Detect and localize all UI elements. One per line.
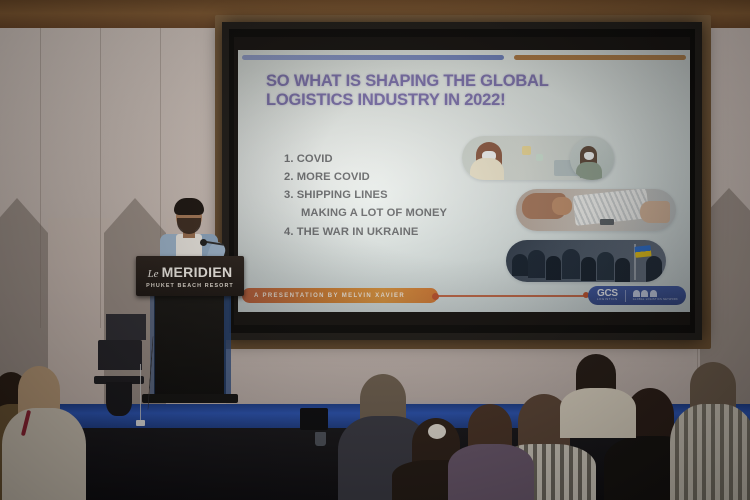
slide-title-line-1: SO WHAT IS SHAPING THE GLOBAL xyxy=(266,72,636,91)
pedestal-base xyxy=(106,382,132,416)
laptop-lid xyxy=(98,340,142,370)
slide-photo-masked-woman-right xyxy=(570,138,614,180)
hair-scrunchie xyxy=(428,424,446,439)
gcs-brand-subtext: LOGISTICS xyxy=(597,299,618,302)
arches-icon xyxy=(633,290,678,297)
speaker-hair xyxy=(174,198,204,215)
microphone-icon xyxy=(200,239,207,246)
presentation-credit-badge: A PRESENTATION BY MELVIN XAVIER xyxy=(242,288,438,303)
venue-sign-le: Le xyxy=(148,268,159,280)
footer-connector-line xyxy=(438,295,602,296)
slide-title: SO WHAT IS SHAPING THE GLOBAL LOGISTICS … xyxy=(266,72,636,110)
presentation-photo-scene: SO WHAT IS SHAPING THE GLOBAL LOGISTICS … xyxy=(0,0,750,500)
slide-accent-bar-orange xyxy=(514,55,686,60)
slide-photo-hands-documents xyxy=(516,189,676,231)
water-glass xyxy=(315,432,326,446)
gcs-wordmark: GCS LOGISTICS xyxy=(588,289,618,302)
venue-sign: Le MERIDIEN PHUKET BEACH RESORT xyxy=(136,256,244,296)
partner-logo-subtext: GLOBAL LOGISTICS NETWORK xyxy=(633,298,678,301)
speaker-beard xyxy=(177,218,201,234)
ukrainian-flag-icon xyxy=(634,245,651,258)
venue-sign-subtitle: PHUKET BEACH RESORT xyxy=(146,283,234,289)
laptop-pedestal-table xyxy=(92,368,146,422)
audience-member-body xyxy=(670,404,750,500)
cable-white xyxy=(140,364,141,422)
laptop-screen xyxy=(106,314,146,340)
logo-divider xyxy=(625,290,626,302)
list-item: 3. SHIPPING LINES xyxy=(284,186,514,204)
podium-edge-right xyxy=(224,296,231,396)
audience-member-body xyxy=(560,388,636,438)
slide-title-line-2: LOGISTICS INDUSTRY IN 2022! xyxy=(266,91,636,110)
audience-member xyxy=(18,366,60,414)
list-item: MAKING A LOT OF MONEY xyxy=(284,204,514,222)
audience-member-body xyxy=(2,408,86,500)
presentation-credit-text: A PRESENTATION BY MELVIN XAVIER xyxy=(242,293,405,299)
list-item: 4. THE WAR IN UKRAINE xyxy=(284,223,514,241)
presentation-slide: SO WHAT IS SHAPING THE GLOBAL LOGISTICS … xyxy=(238,50,690,312)
slide-photo-crowd-ukraine-flag xyxy=(506,240,666,282)
audience-member xyxy=(690,362,736,410)
podium: Le MERIDIEN PHUKET BEACH RESORT xyxy=(136,256,244,408)
gcs-logo-badge: GCS LOGISTICS GLOBAL LOGISTICS NETWORK xyxy=(588,286,686,305)
audience-member-body xyxy=(448,444,534,500)
podium-body xyxy=(154,296,226,396)
stage-monitor-box xyxy=(300,408,328,430)
partner-logo: GLOBAL LOGISTICS NETWORK xyxy=(633,290,678,301)
footer-dot xyxy=(432,293,439,300)
power-adapter xyxy=(136,420,145,426)
venue-sign-name: MERIDIEN xyxy=(162,264,233,280)
slide-accent-bar-blue xyxy=(242,55,504,60)
